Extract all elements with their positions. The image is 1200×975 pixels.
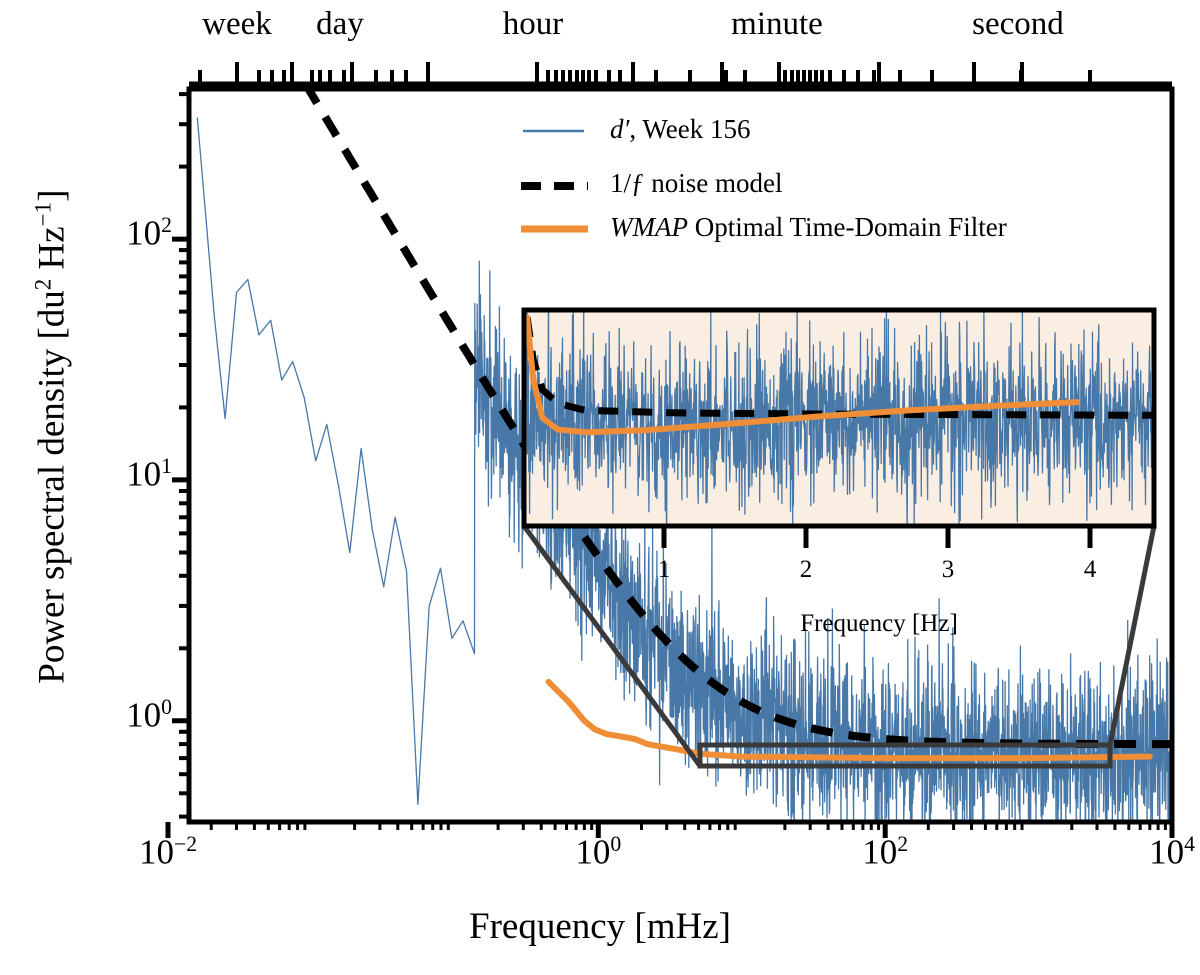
- legend-line-samples: [521, 131, 588, 229]
- legend-item-label: , Week 156: [629, 114, 750, 144]
- x-tick-exponent: 4: [1184, 832, 1195, 856]
- x-tick-exponent: −2: [174, 832, 197, 856]
- y-tick-label: 100: [0, 695, 172, 736]
- inset-x-tick-label: 3: [908, 556, 988, 584]
- inset-x-tick-label: 4: [1050, 556, 1130, 584]
- x-tick-label: 104: [1102, 832, 1200, 873]
- y-tick-exponent: 2: [161, 213, 172, 237]
- legend-item[interactable]: 1/ƒ noise model: [610, 168, 782, 199]
- y-tick-exponent: 0: [161, 695, 172, 719]
- inset-x-tick-label: 1: [624, 556, 704, 584]
- x-tick-mantissa: 10: [1149, 833, 1184, 872]
- x-tick-label: 10−2: [98, 832, 238, 873]
- legend-item-emphasis: WMAP: [610, 212, 688, 242]
- y-tick-mantissa: 10: [126, 695, 161, 734]
- x-tick-exponent: 2: [897, 832, 908, 856]
- top-axis-label-minute: minute: [687, 6, 867, 43]
- y-tick-label: 101: [0, 454, 172, 495]
- top-axis-label-second: second: [928, 6, 1108, 43]
- x-tick-label: 100: [528, 832, 668, 873]
- x-tick-exponent: 0: [610, 832, 621, 856]
- legend-item-label: 1/ƒ noise model: [610, 168, 782, 198]
- y-tick-label: 102: [0, 213, 172, 254]
- y-tick-exponent: 1: [161, 454, 172, 478]
- inset-x-tick-label: 2: [766, 556, 846, 584]
- legend-item[interactable]: WMAP Optimal Time-Domain Filter: [610, 212, 1007, 243]
- figure-root: Power spectral density [du2 Hz−1] weekda…: [0, 0, 1200, 975]
- top-axis-label-hour: hour: [443, 6, 623, 43]
- x-axis-title: Frequency [mHz]: [0, 905, 1200, 948]
- x-tick-mantissa: 10: [139, 833, 174, 872]
- x-tick-label: 102: [815, 832, 955, 873]
- legend-item[interactable]: d′, Week 156: [610, 114, 750, 145]
- y-tick-mantissa: 10: [126, 214, 161, 253]
- inset-x-axis-title: Frequency [Hz]: [664, 610, 1094, 638]
- chart-canvas: [0, 0, 1200, 975]
- y-tick-mantissa: 10: [126, 455, 161, 494]
- x-tick-mantissa: 10: [575, 833, 610, 872]
- x-tick-mantissa: 10: [862, 833, 897, 872]
- legend-item-emphasis: d′: [610, 114, 629, 144]
- top-axis-label-day: day: [250, 6, 430, 43]
- legend-item-label: Optimal Time-Domain Filter: [688, 212, 1007, 242]
